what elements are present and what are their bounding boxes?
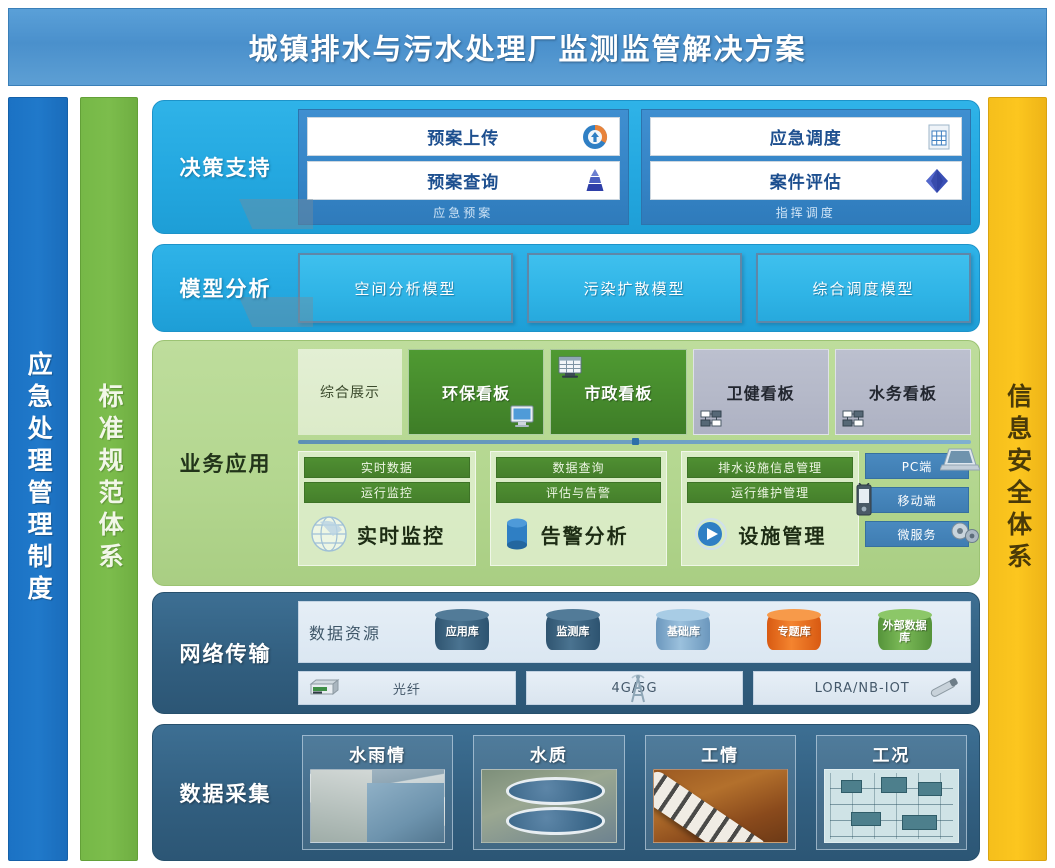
decision-group-command-dispatch-label: 指挥调度 <box>642 204 971 221</box>
acquisition-card-water-quality[interactable]: 水质 <box>473 735 624 850</box>
pillar-emergency-management: 应急处理管理制度 <box>8 97 68 861</box>
model-box-spatial-analysis[interactable]: 空间分析模型 <box>298 253 513 323</box>
acquisition-card-working-condition-caption: 工况 <box>820 739 963 767</box>
laptop-icon <box>940 445 980 475</box>
kanban-row: 综合展示 环保看板 市政看板 <box>298 349 971 435</box>
decision-group-emergency-plan-label: 应急预案 <box>299 204 628 221</box>
layer-model-label: 模型分析 <box>153 245 298 331</box>
network-link-4g5g[interactable]: 4G/5G <box>526 671 744 705</box>
database-external-label: 外部数据库 <box>878 620 932 643</box>
acquisition-card-engineering[interactable]: 工情 <box>645 735 796 850</box>
layer-acquisition-label: 数据采集 <box>153 725 298 860</box>
treatment-basin-photo <box>481 769 616 843</box>
acquisition-card-working-condition[interactable]: 工况 <box>816 735 967 850</box>
kanban-health-label: 卫健看板 <box>727 380 795 404</box>
kanban-municipal-label: 市政看板 <box>584 380 652 404</box>
page-title-banner: 城镇排水与污水处理厂监测监管解决方案 <box>8 8 1047 86</box>
layer-network-transmission: 网络传输 数据资源 应用库 监测库 <box>152 592 980 714</box>
page-title: 城镇排水与污水处理厂监测监管解决方案 <box>248 26 806 68</box>
database-icon <box>500 513 534 555</box>
data-resource-label: 数据资源 <box>309 620 405 644</box>
data-resource-row: 数据资源 应用库 监测库 基础库 <box>298 601 971 663</box>
terminal-pc-label: PC端 <box>902 458 933 475</box>
monitor-icon <box>509 404 535 428</box>
decision-group-command-dispatch: 应急调度 案件评估 <box>641 109 972 225</box>
database-basic-label: 基础库 <box>667 626 700 638</box>
scada-diagram-photo <box>824 769 959 843</box>
diamond-cone-icon <box>922 167 952 195</box>
acquisition-card-water-rain-label: 水雨情 <box>349 741 406 766</box>
database-application[interactable]: 应用库 <box>435 609 489 655</box>
overview-label: 综合展示 <box>320 382 380 402</box>
model-box-pollution-diffusion-label: 污染扩散模型 <box>583 278 685 299</box>
decision-item-plan-query-label: 预案查询 <box>427 168 499 193</box>
terminal-microservice[interactable]: 微服务 <box>865 521 969 547</box>
play-circle-icon <box>691 514 731 554</box>
layer-network-label: 网络传输 <box>153 593 298 713</box>
kanban-health[interactable]: 卫健看板 <box>693 349 829 435</box>
layer-decision-support: 决策支持 预案上传 <box>152 100 980 234</box>
business-main-alarm-analysis-label: 告警分析 <box>541 520 629 549</box>
pillar-standard-system: 标准规范体系 <box>80 97 138 861</box>
model-box-pollution-diffusion[interactable]: 污染扩散模型 <box>527 253 742 323</box>
network-link-lora[interactable]: LORA/NB-IOT <box>753 671 971 705</box>
antenna-icon <box>926 676 962 700</box>
business-column-facility: 排水设施信息管理 运行维护管理 <box>681 451 859 566</box>
model-box-spatial-analysis-label: 空间分析模型 <box>354 278 456 299</box>
layer-data-acquisition: 数据采集 水雨情 水质 <box>152 724 980 861</box>
chart-node-icon <box>700 410 722 428</box>
acquisition-card-water-rain[interactable]: 水雨情 <box>302 735 453 850</box>
layer-model-body: 空间分析模型 污染扩散模型 综合调度模型 <box>298 253 971 323</box>
window-icon <box>557 355 583 379</box>
globe-icon <box>308 513 350 555</box>
database-thematic-label: 专题库 <box>778 626 811 638</box>
database-application-label: 应用库 <box>446 626 479 638</box>
overview-label-cell: 综合展示 <box>298 349 402 435</box>
business-main-realtime-monitoring-label: 实时监控 <box>357 520 445 549</box>
pillar-security-label: 信息安全体系 <box>1004 383 1030 575</box>
database-monitoring[interactable]: 监测库 <box>546 609 600 655</box>
layer-acquisition-body: 水雨情 水质 工情 <box>298 733 971 852</box>
terminal-pc[interactable]: PC端 <box>865 453 969 479</box>
business-tag-drainage-facility-info-label: 排水设施信息管理 <box>718 459 822 476</box>
business-tag-realtime-data[interactable]: 实时数据 <box>304 457 470 478</box>
network-link-fiber[interactable]: 光纤 <box>298 671 516 705</box>
chart-node-icon <box>842 410 864 428</box>
upload-gauge-icon <box>580 122 610 152</box>
layer-business-application: 业务应用 综合展示 环保看板 <box>152 340 980 586</box>
database-basic[interactable]: 基础库 <box>656 609 710 655</box>
terminal-list: PC端 移动端 <box>865 453 969 547</box>
database-external[interactable]: 外部数据库 <box>878 609 932 655</box>
business-main-facility-management[interactable]: 设施管理 <box>687 507 853 561</box>
terminal-microservice-label: 微服务 <box>897 526 936 543</box>
business-main-facility-management-label: 设施管理 <box>738 520 826 549</box>
pillar-emergency-label: 应急处理管理制度 <box>25 351 51 607</box>
layer-business-label: 业务应用 <box>153 341 298 585</box>
kanban-environment[interactable]: 环保看板 <box>408 349 544 435</box>
network-link-row: 光纤 4G/5G LORA/NB-IOT <box>298 671 971 705</box>
business-tag-data-query[interactable]: 数据查询 <box>496 457 662 478</box>
acquisition-card-water-quality-label: 水质 <box>530 741 568 766</box>
business-tag-evaluation-alarm[interactable]: 评估与告警 <box>496 482 662 503</box>
cell-tower-icon <box>626 672 650 704</box>
kanban-municipal[interactable]: 市政看板 <box>550 349 686 435</box>
network-link-fiber-label: 光纤 <box>393 679 421 698</box>
business-tag-operation-maintenance[interactable]: 运行维护管理 <box>687 482 853 503</box>
acquisition-card-working-condition-label: 工况 <box>872 741 910 766</box>
business-main-realtime-monitoring[interactable]: 实时监控 <box>304 507 470 561</box>
business-tag-evaluation-alarm-label: 评估与告警 <box>546 484 611 501</box>
pipeline-trench-photo <box>653 769 788 843</box>
layer-decision-label: 决策支持 <box>153 101 298 233</box>
decision-item-case-evaluation-label: 案件评估 <box>770 168 842 193</box>
layer-model-analysis: 模型分析 空间分析模型 污染扩散模型 综合调度模型 <box>152 244 980 332</box>
acquisition-card-engineering-caption: 工情 <box>649 739 792 767</box>
decision-item-plan-upload-label: 预案上传 <box>427 124 499 149</box>
kanban-environment-label: 环保看板 <box>442 380 510 404</box>
kanban-water-affairs[interactable]: 水务看板 <box>835 349 971 435</box>
switch-icon <box>307 677 341 699</box>
business-tag-operation-monitoring-label: 运行监控 <box>361 484 413 501</box>
pyramid-chart-icon <box>580 167 610 195</box>
business-main-alarm-analysis[interactable]: 告警分析 <box>496 507 662 561</box>
business-column-alarm: 数据查询 评估与告警 <box>490 451 668 566</box>
business-tag-operation-monitoring[interactable]: 运行监控 <box>304 482 470 503</box>
gears-icon <box>948 518 982 546</box>
mobile-phone-icon <box>853 483 875 517</box>
model-box-integrated-dispatch[interactable]: 综合调度模型 <box>756 253 971 323</box>
business-column-monitoring: 实时数据 运行监控 <box>298 451 476 566</box>
business-tag-drainage-facility-info[interactable]: 排水设施信息管理 <box>687 457 853 478</box>
table-grid-icon <box>926 123 952 151</box>
business-tag-data-query-label: 数据查询 <box>553 459 605 476</box>
architecture-diagram: 城镇排水与污水处理厂监测监管解决方案 应急处理管理制度 标准规范体系 信息安全体… <box>0 0 1055 868</box>
pillar-standard-label: 标准规范体系 <box>96 383 122 575</box>
levee-canal-photo <box>310 769 445 843</box>
database-monitoring-label: 监测库 <box>556 626 589 638</box>
model-box-integrated-dispatch-label: 综合调度模型 <box>812 278 914 299</box>
decision-item-plan-query[interactable]: 预案查询 <box>307 161 620 200</box>
pillar-information-security: 信息安全体系 <box>988 97 1047 861</box>
acquisition-card-water-rain-caption: 水雨情 <box>306 739 449 767</box>
layer-network-body: 数据资源 应用库 监测库 基础库 <box>298 601 971 705</box>
terminal-mobile-label: 移动端 <box>897 492 936 509</box>
decision-item-emergency-dispatch-label: 应急调度 <box>770 124 842 149</box>
acquisition-card-engineering-label: 工情 <box>701 741 739 766</box>
decision-item-emergency-dispatch[interactable]: 应急调度 <box>650 117 963 156</box>
business-tag-realtime-data-label: 实时数据 <box>361 459 413 476</box>
kanban-water-affairs-label: 水务看板 <box>869 380 937 404</box>
database-thematic[interactable]: 专题库 <box>767 609 821 655</box>
layer-decision-body: 预案上传 <box>298 109 971 225</box>
decision-item-plan-upload[interactable]: 预案上传 <box>307 117 620 156</box>
decision-item-case-evaluation[interactable]: 案件评估 <box>650 161 963 200</box>
decision-group-emergency-plan: 预案上传 <box>298 109 629 225</box>
acquisition-card-water-quality-caption: 水质 <box>477 739 620 767</box>
business-tag-operation-maintenance-label: 运行维护管理 <box>731 484 809 501</box>
kanban-divider <box>298 440 971 444</box>
terminal-mobile[interactable]: 移动端 <box>865 487 969 513</box>
layer-business-body: 综合展示 环保看板 市政看板 <box>298 349 971 577</box>
network-link-lora-label: LORA/NB-IOT <box>815 681 910 696</box>
